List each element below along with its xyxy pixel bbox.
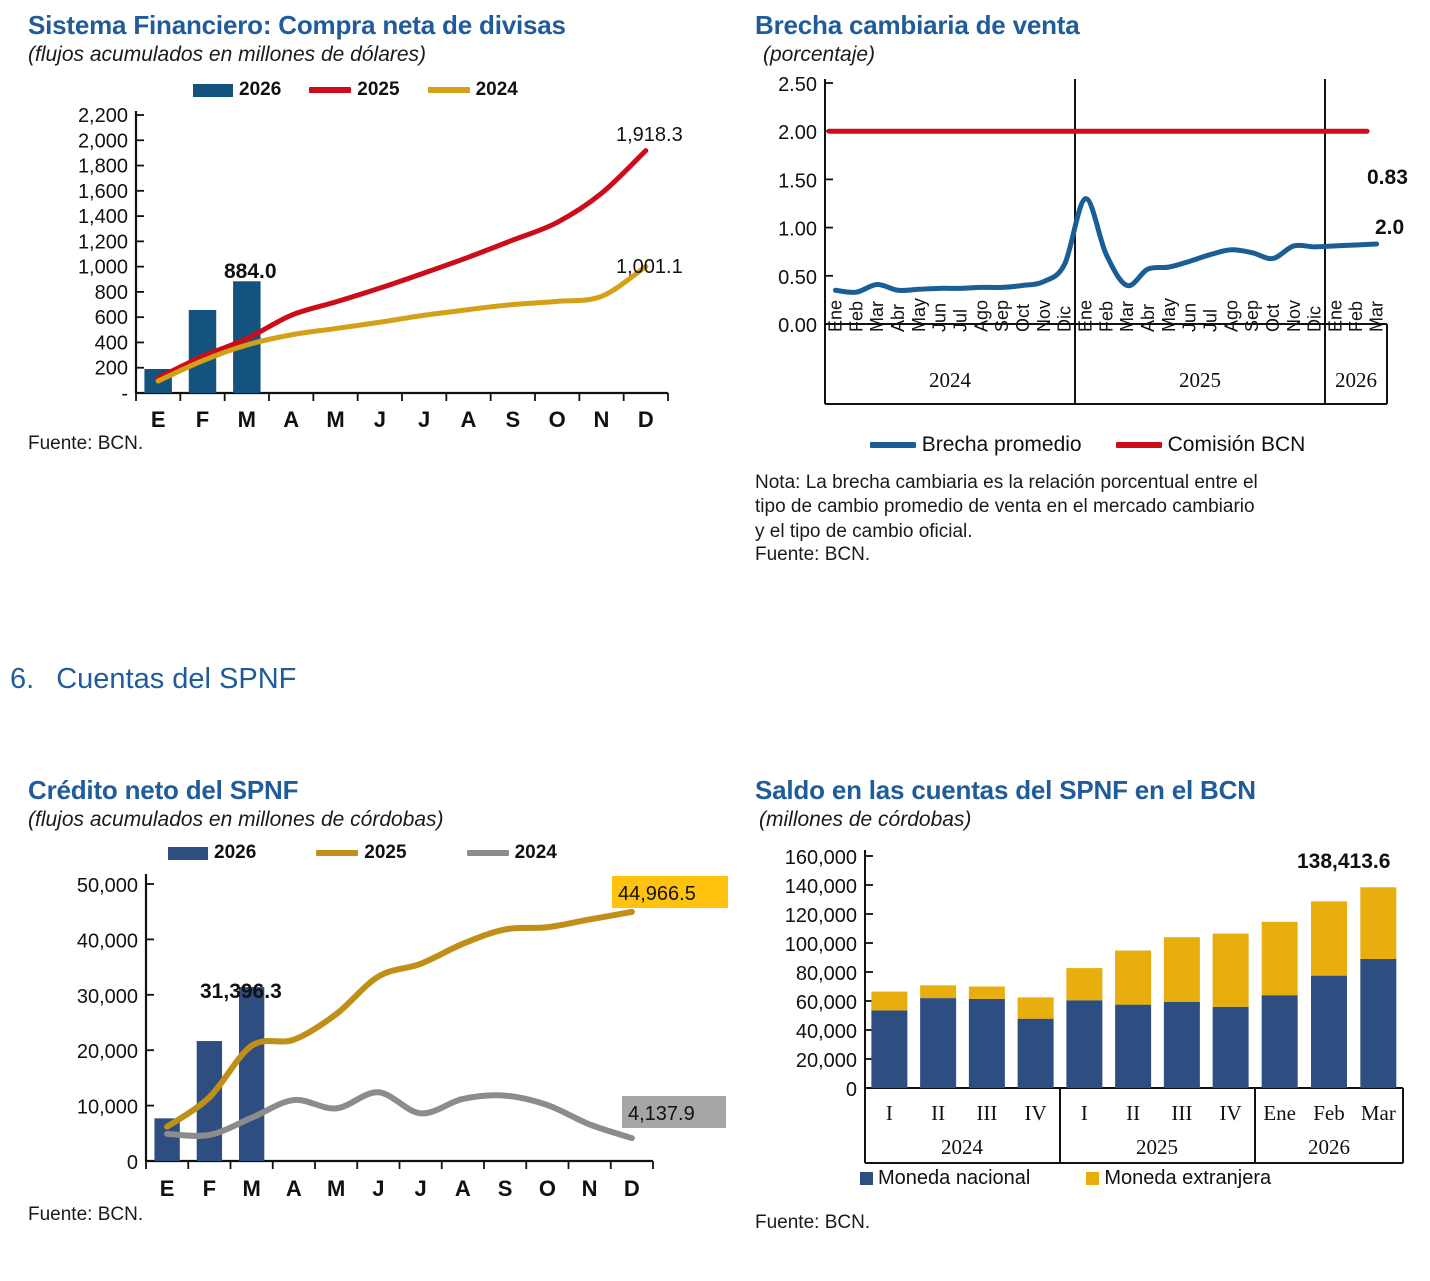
series-line-2024 (158, 266, 646, 380)
section-number: 6. (10, 663, 34, 696)
x-tick-Oct: Oct (1263, 304, 1283, 332)
x-tick-Ago: Ago (971, 300, 991, 332)
bar-nacional-Feb (1311, 976, 1347, 1088)
x-tick-Ago: Ago (1221, 300, 1241, 332)
chart-svg-saldo-cuentas: 020,00040,00060,00080,000100,000120,0001… (755, 836, 1430, 1171)
chart-subtitle-credito-neto: (flujos acumulados en millones de córdob… (28, 808, 728, 832)
data-label-0-83: 0.83 (1367, 166, 1408, 189)
svg-text:0.00: 0.00 (778, 315, 817, 337)
x-tick-F: F (203, 1176, 216, 1201)
x-tick-Abr: Abr (1138, 304, 1158, 332)
chart-panel-credito-neto-spnf: Crédito neto del SPNF (flujos acumulados… (28, 775, 728, 1226)
bar-nacional-I (871, 1010, 907, 1088)
svg-text:100,000: 100,000 (785, 934, 857, 956)
data-label-44966: 44,966.5 (618, 883, 696, 905)
x-tick-May: May (909, 298, 929, 332)
legend-label-2025: 2025 (364, 842, 406, 864)
x-tick-Feb: Feb (1096, 301, 1116, 332)
svg-text:1,400: 1,400 (78, 206, 128, 228)
x-tick-J: J (374, 407, 386, 431)
legend-swatch-bar-icon (193, 84, 233, 97)
legend-label-comision-bcn: Comisión BCN (1168, 433, 1306, 457)
bar-nacional-III (969, 999, 1005, 1088)
x-tick-M: M (238, 407, 256, 431)
legend-label-2024: 2024 (515, 842, 557, 864)
data-label-1001: 1,001.1 (616, 256, 683, 278)
bar-extranjera-Ene (1262, 922, 1298, 995)
legend-swatch-line-icon (316, 850, 358, 856)
x-tick-E: E (160, 1176, 175, 1201)
x-tick-III: III (976, 1101, 997, 1125)
x-tick-J: J (418, 407, 430, 431)
x-tick-Jul: Jul (950, 309, 970, 332)
series-line-brecha-promedio (835, 199, 1376, 293)
legend-swatch-line-icon (1116, 442, 1162, 448)
x-tick-II: II (931, 1101, 945, 1125)
legend-item-2024[interactable]: 2024 (467, 842, 557, 864)
svg-text:1,200: 1,200 (78, 231, 128, 253)
x-tick-J: J (415, 1176, 427, 1201)
chart-svg-brecha: 0.000.501.001.502.002.50 2.0 0.83 EneFeb… (755, 69, 1420, 439)
svg-text:-: - (121, 383, 128, 405)
x-tick-Sep: Sep (1242, 300, 1262, 332)
bar-nacional-I (1066, 1000, 1102, 1088)
x-tick-Nov: Nov (1284, 300, 1304, 332)
x-tick-Dic: Dic (1305, 306, 1325, 332)
chart-svg-compra-neta: -2004006008001,0001,2001,4001,6001,8002,… (28, 101, 718, 431)
legend-label-2025: 2025 (357, 79, 399, 101)
x-tick-M: M (327, 1176, 345, 1201)
chart-subtitle-saldo-cuentas: (millones de córdobas) (759, 808, 1430, 832)
legend-item-2025[interactable]: 2025 (309, 79, 399, 101)
bar-extranjera-I (1066, 968, 1102, 1000)
legend-item-2024[interactable]: 2024 (428, 79, 518, 101)
x-tick-Oct: Oct (1013, 304, 1033, 332)
bar-extranjera-IV (1018, 997, 1054, 1018)
svg-text:1,000: 1,000 (78, 257, 128, 279)
x-tick-Nov: Nov (1034, 300, 1054, 332)
data-label-1918: 1,918.3 (616, 124, 683, 146)
source-compra-neta: Fuente: BCN. (28, 433, 718, 455)
svg-text:60,000: 60,000 (796, 992, 857, 1014)
x-tick-Ene: Ene (1263, 1101, 1296, 1125)
x-tick-N: N (582, 1176, 598, 1201)
bar-nacional-III (1164, 1002, 1200, 1088)
x-tick-Mar: Mar (1367, 301, 1387, 332)
source-saldo-cuentas: Fuente: BCN. (755, 1212, 1430, 1234)
svg-text:0: 0 (127, 1152, 138, 1174)
x-tick-Feb: Feb (846, 301, 866, 332)
legend-item-brecha-promedio[interactable]: Brecha promedio (870, 433, 1082, 457)
legend-label-2026: 2026 (239, 79, 281, 101)
bar-extranjera-I (871, 992, 907, 1011)
legend-label-moneda-extranjera: Moneda extranjera (1104, 1167, 1271, 1190)
bar-nacional-IV (1213, 1007, 1249, 1088)
legend-label-2026: 2026 (214, 842, 256, 864)
legend-label-2024: 2024 (476, 79, 518, 101)
bar-M (239, 987, 264, 1161)
x-tick-D: D (624, 1176, 640, 1201)
legend-swatch-line-icon (467, 850, 509, 856)
x-tick-M: M (242, 1176, 260, 1201)
legend-label-moneda-nacional: Moneda nacional (878, 1167, 1030, 1190)
legend-item-2026[interactable]: 2026 (168, 842, 256, 864)
data-label-31396: 31,396.3 (200, 980, 282, 1003)
legend-label-brecha-promedio: Brecha promedio (922, 433, 1082, 457)
chart-panel-saldo-cuentas-spnf: Saldo en las cuentas del SPNF en el BCN … (755, 775, 1430, 1234)
bar-extranjera-II (1115, 951, 1151, 1005)
bar-nacional-II (920, 998, 956, 1088)
bar-nacional-IV (1018, 1019, 1054, 1088)
x-group-label: 2026 (1335, 368, 1377, 392)
svg-text:1,800: 1,800 (78, 156, 128, 178)
svg-text:40,000: 40,000 (77, 930, 138, 952)
svg-text:10,000: 10,000 (77, 1097, 138, 1119)
x-tick-A: A (455, 1176, 471, 1201)
legend-item-2025[interactable]: 2025 (316, 842, 406, 864)
x-tick-I: I (886, 1101, 893, 1125)
x-group-label: 2024 (941, 1135, 984, 1159)
x-tick-A: A (461, 407, 477, 431)
bar-extranjera-III (1164, 937, 1200, 1002)
legend-swatch-line-icon (870, 442, 916, 448)
x-group-label: 2026 (1308, 1135, 1350, 1159)
svg-text:160,000: 160,000 (785, 847, 857, 869)
x-tick-Jun: Jun (1180, 303, 1200, 332)
x-tick-Mar: Mar (1117, 301, 1137, 332)
x-tick-I: I (1081, 1101, 1088, 1125)
x-tick-May: May (1159, 298, 1179, 332)
chart-title-compra-neta: Sistema Financiero: Compra neta de divis… (28, 10, 718, 41)
data-label-138413: 138,413.6 (1297, 850, 1390, 873)
data-label-884: 884.0 (224, 260, 277, 283)
svg-text:40,000: 40,000 (796, 1021, 857, 1043)
report-page: Sistema Financiero: Compra neta de divis… (0, 0, 1430, 1281)
chart-panel-brecha-cambiaria: Brecha cambiaria de venta (porcentaje) 0… (755, 10, 1420, 566)
x-group-label: 2025 (1136, 1135, 1178, 1159)
chart-panel-compra-neta-divisas: Sistema Financiero: Compra neta de divis… (28, 10, 718, 455)
svg-text:2.50: 2.50 (778, 74, 817, 96)
x-group-label: 2024 (929, 368, 972, 392)
x-tick-E: E (151, 407, 166, 431)
legend-item-2026[interactable]: 2026 (193, 79, 281, 101)
svg-text:400: 400 (95, 332, 128, 354)
x-tick-F: F (196, 407, 209, 431)
svg-text:800: 800 (95, 282, 128, 304)
bar-extranjera-II (920, 985, 956, 998)
x-tick-S: S (505, 407, 520, 431)
svg-text:140,000: 140,000 (785, 876, 857, 898)
x-tick-Ene: Ene (825, 300, 845, 332)
svg-text:200: 200 (95, 358, 128, 380)
svg-text:2.00: 2.00 (778, 122, 817, 144)
legend-brecha: Brecha promedio Comisión BCN (755, 433, 1420, 457)
bar-extranjera-IV (1213, 934, 1249, 1007)
chart-svg-credito-neto: 010,00020,00030,00040,00050,000 31,396.3… (28, 864, 728, 1204)
svg-text:20,000: 20,000 (77, 1041, 138, 1063)
x-tick-Mar: Mar (1361, 1101, 1396, 1125)
chart-subtitle-brecha: (porcentaje) (763, 43, 1420, 67)
svg-text:80,000: 80,000 (796, 963, 857, 985)
chart-title-saldo-cuentas: Saldo en las cuentas del SPNF en el BCN (755, 775, 1430, 806)
x-tick-IV: IV (1220, 1101, 1242, 1125)
x-tick-Jun: Jun (930, 303, 950, 332)
section-title: Cuentas del SPNF (56, 663, 296, 696)
legend-swatch-line-icon (428, 87, 470, 93)
legend-swatch-square-icon (860, 1172, 873, 1185)
legend-swatch-bar-icon (168, 847, 208, 860)
data-label-4137: 4,137.9 (628, 1103, 695, 1125)
legend-item-moneda-extranjera[interactable]: Moneda extranjera (1086, 1167, 1271, 1190)
bar-nacional-II (1115, 1005, 1151, 1088)
svg-text:20,000: 20,000 (796, 1050, 857, 1072)
x-tick-Feb: Feb (1346, 301, 1366, 332)
legend-credito-neto: 2026 2025 2024 (168, 842, 728, 864)
note-brecha: Nota: La brecha cambiaria es la relación… (755, 471, 1265, 544)
x-tick-A: A (286, 1176, 302, 1201)
svg-text:120,000: 120,000 (785, 905, 857, 927)
svg-text:600: 600 (95, 307, 128, 329)
bar-nacional-Ene (1262, 995, 1298, 1088)
x-tick-IV: IV (1025, 1101, 1047, 1125)
bar-nacional-Mar (1360, 959, 1396, 1088)
x-tick-III: III (1171, 1101, 1192, 1125)
legend-item-moneda-nacional[interactable]: Moneda nacional (860, 1167, 1030, 1190)
svg-text:2,200: 2,200 (78, 105, 128, 127)
svg-text:30,000: 30,000 (77, 986, 138, 1008)
legend-compra-neta: 2026 2025 2024 (193, 79, 718, 101)
x-tick-Mar: Mar (867, 301, 887, 332)
x-tick-II: II (1126, 1101, 1140, 1125)
chart-subtitle-compra-neta: (flujos acumulados en millones de dólare… (28, 43, 718, 67)
svg-text:50,000: 50,000 (77, 875, 138, 897)
x-tick-Ene: Ene (1325, 300, 1345, 332)
legend-swatch-line-icon (309, 87, 351, 93)
x-group-label: 2025 (1179, 368, 1221, 392)
x-tick-Dic: Dic (1055, 306, 1075, 332)
chart-title-credito-neto: Crédito neto del SPNF (28, 775, 728, 806)
x-tick-M: M (326, 407, 344, 431)
bar-extranjera-III (969, 987, 1005, 999)
x-tick-S: S (498, 1176, 513, 1201)
source-brecha: Fuente: BCN. (755, 544, 1420, 566)
x-tick-Sep: Sep (992, 300, 1012, 332)
svg-text:0: 0 (846, 1079, 857, 1101)
x-tick-Abr: Abr (888, 304, 908, 332)
x-tick-A: A (283, 407, 299, 431)
chart-title-brecha: Brecha cambiaria de venta (755, 10, 1420, 41)
series-line-2024 (167, 1092, 632, 1138)
x-tick-Jul: Jul (1200, 309, 1220, 332)
svg-text:2,000: 2,000 (78, 130, 128, 152)
data-label-2-0: 2.0 (1375, 216, 1404, 239)
svg-text:1.50: 1.50 (778, 170, 817, 192)
x-tick-J: J (372, 1176, 384, 1201)
legend-swatch-square-icon (1086, 1172, 1099, 1185)
series-line-2025 (167, 912, 632, 1127)
legend-saldo-cuentas: Moneda nacional Moneda extranjera (860, 1167, 1430, 1190)
svg-text:1.00: 1.00 (778, 219, 817, 241)
bar-extranjera-Feb (1311, 901, 1347, 975)
legend-item-comision-bcn[interactable]: Comisión BCN (1116, 433, 1306, 457)
x-tick-N: N (594, 407, 610, 431)
x-tick-D: D (638, 407, 654, 431)
x-tick-O: O (549, 407, 566, 431)
x-tick-Feb: Feb (1313, 1101, 1345, 1125)
x-tick-O: O (539, 1176, 556, 1201)
bar-extranjera-Mar (1360, 887, 1396, 959)
svg-text:1,600: 1,600 (78, 181, 128, 203)
section-heading-cuentas-spnf: 6. Cuentas del SPNF (10, 663, 296, 696)
svg-text:0.50: 0.50 (778, 267, 817, 289)
source-credito-neto: Fuente: BCN. (28, 1204, 728, 1226)
x-tick-Ene: Ene (1075, 300, 1095, 332)
